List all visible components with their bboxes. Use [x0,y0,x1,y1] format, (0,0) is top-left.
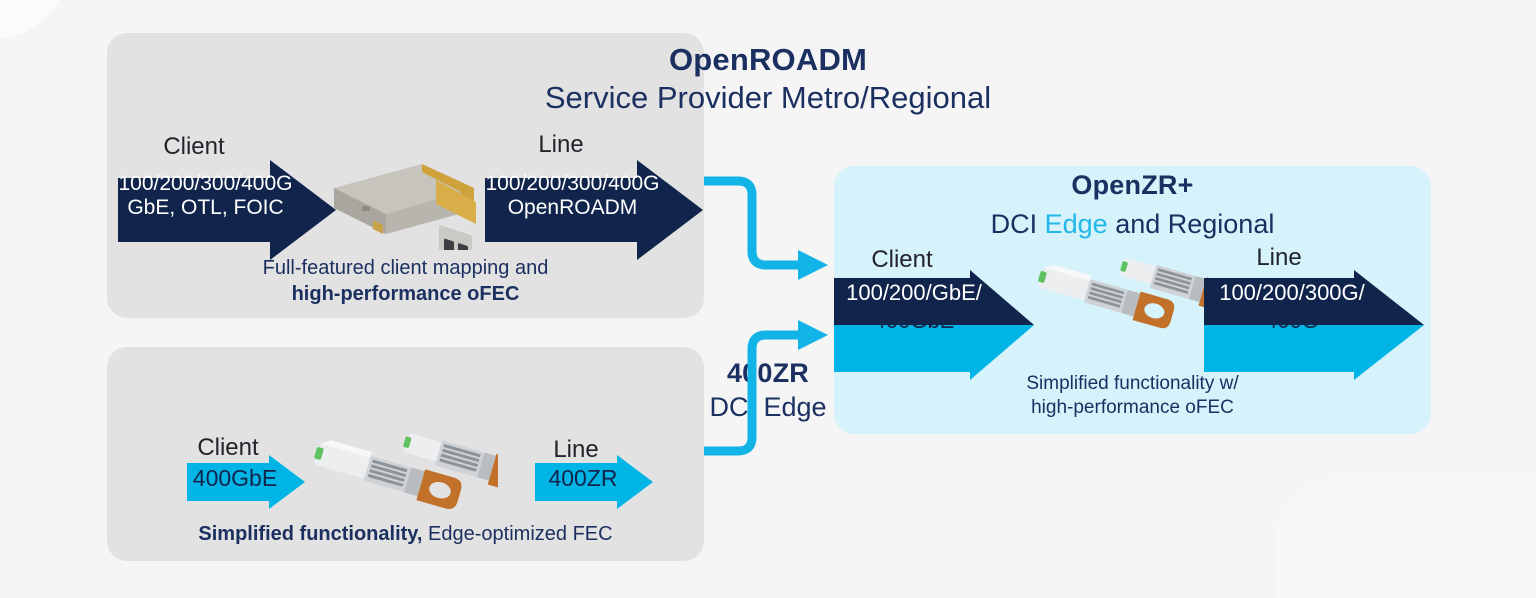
openzrplus-caption: Simplified functionality w/ high-perform… [834,372,1431,421]
openzrplus-title: OpenZR+ [834,170,1431,201]
openzrplus-subtitle-highlight: Edge [1045,209,1108,239]
openzrplus-line-arrow [1204,270,1424,380]
openzrplus-caption-line2: high-performance oFEC [834,396,1431,420]
openzrplus-subtitle-part2: and Regional [1108,209,1275,239]
openzrplus-client-arrow [834,270,1034,380]
openzrplus-line-caption: Line [1204,244,1354,272]
diagram-canvas: OpenROADM Service Provider Metro/Regiona… [0,0,1536,598]
openzrplus-subtitle: DCI Edge and Regional [834,209,1431,240]
openzrplus-client-caption: Client [834,246,970,274]
openzrplus-caption-line1: Simplified functionality w/ [834,372,1431,396]
openzrplus-subtitle-part1: DCI [991,209,1045,239]
qsfp-dd-module-pair-openzrplus [1036,255,1208,335]
